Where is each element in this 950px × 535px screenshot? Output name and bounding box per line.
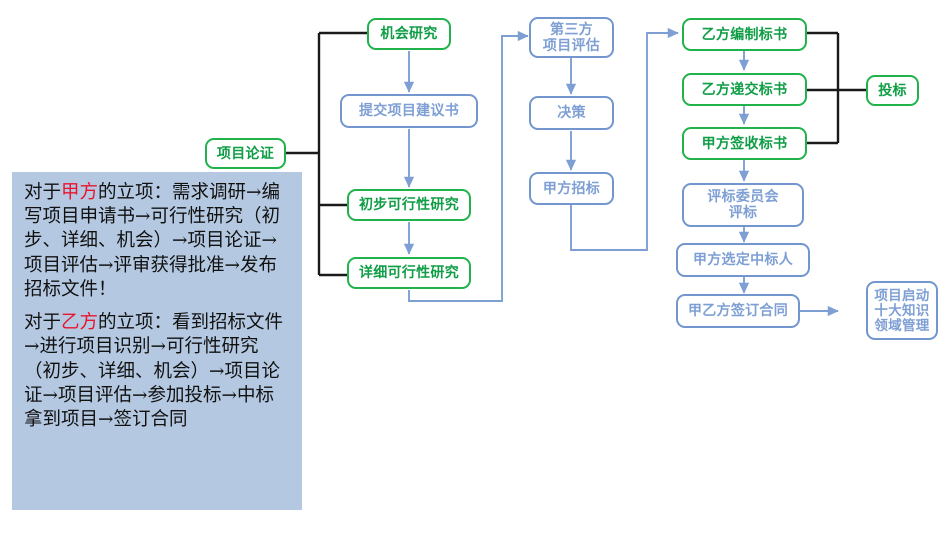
note-party-a-prefix: 对于 — [24, 182, 61, 203]
node-chubu-kexingxing[interactable]: 初步可行性研究 — [347, 189, 471, 221]
node-jiafang-qianshou[interactable]: 甲方签收标书 — [682, 127, 807, 160]
node-disanfang-pinggu[interactable]: 第三方 项目评估 — [529, 17, 614, 58]
node-tijiao-jianyishu[interactable]: 提交项目建议书 — [340, 94, 478, 128]
note-party-a-highlight: 甲方 — [61, 182, 98, 203]
wire-zhaobiao-to-bianzhi — [571, 33, 678, 250]
node-label: 初步可行性研究 — [359, 197, 459, 213]
note-party-b: 对于乙方的立项：看到招标文件→进行项目识别→可行性研究（初步、详细、机会）→项目… — [24, 311, 292, 432]
node-jihui-yanjiu[interactable]: 机会研究 — [367, 18, 451, 50]
node-yifang-dijiao[interactable]: 乙方递交标书 — [682, 73, 807, 106]
node-label: 乙方编制标书 — [702, 27, 788, 43]
node-label: 评标委员会 评标 — [707, 189, 779, 220]
node-label: 机会研究 — [380, 26, 437, 42]
node-label: 投标 — [878, 83, 907, 99]
note-party-b-prefix: 对于 — [24, 312, 61, 333]
node-label: 乙方递交标书 — [702, 82, 788, 98]
node-label: 第三方 项目评估 — [543, 22, 600, 53]
flowchart-canvas: 项目论证 机会研究 提交项目建议书 初步可行性研究 详细可行性研究 第三方 项目… — [0, 0, 950, 535]
node-label: 决策 — [557, 105, 586, 121]
note-panel: 对于甲方的立项：需求调研→编写项目申请书→可行性研究（初步、详细、机会）→项目论… — [12, 172, 302, 510]
black-bracket-right — [807, 33, 866, 143]
node-jiafang-xuanding[interactable]: 甲方选定中标人 — [676, 243, 810, 277]
node-jiafang-zhaobiao[interactable]: 甲方招标 — [529, 172, 614, 205]
note-party-a: 对于甲方的立项：需求调研→编写项目申请书→可行性研究（初步、详细、机会）→项目论… — [24, 181, 292, 302]
node-juece[interactable]: 决策 — [529, 96, 614, 130]
node-xiangmu-qidong[interactable]: 项目启动 十大知识 领域管理 — [866, 281, 938, 340]
node-label: 详细可行性研究 — [359, 265, 459, 281]
node-toubiao[interactable]: 投标 — [866, 75, 919, 106]
node-label: 项目论证 — [217, 146, 274, 162]
node-xiangmu-lunzheng[interactable]: 项目论证 — [205, 138, 286, 169]
node-label: 甲方签收标书 — [702, 136, 788, 152]
node-pingbiao-weiyuanhui[interactable]: 评标委员会 评标 — [682, 183, 804, 227]
node-qianding-hetong[interactable]: 甲乙方签订合同 — [676, 294, 800, 328]
node-yifang-bianzhi[interactable]: 乙方编制标书 — [682, 18, 807, 51]
node-label: 提交项目建议书 — [359, 103, 459, 119]
node-label: 项目启动 十大知识 领域管理 — [874, 288, 929, 333]
node-label: 甲乙方签订合同 — [688, 303, 788, 319]
node-label: 甲方招标 — [543, 181, 600, 197]
node-xiangxi-kexingxing[interactable]: 详细可行性研究 — [347, 257, 471, 289]
note-party-b-highlight: 乙方 — [61, 312, 98, 333]
node-label: 甲方选定中标人 — [693, 252, 793, 268]
